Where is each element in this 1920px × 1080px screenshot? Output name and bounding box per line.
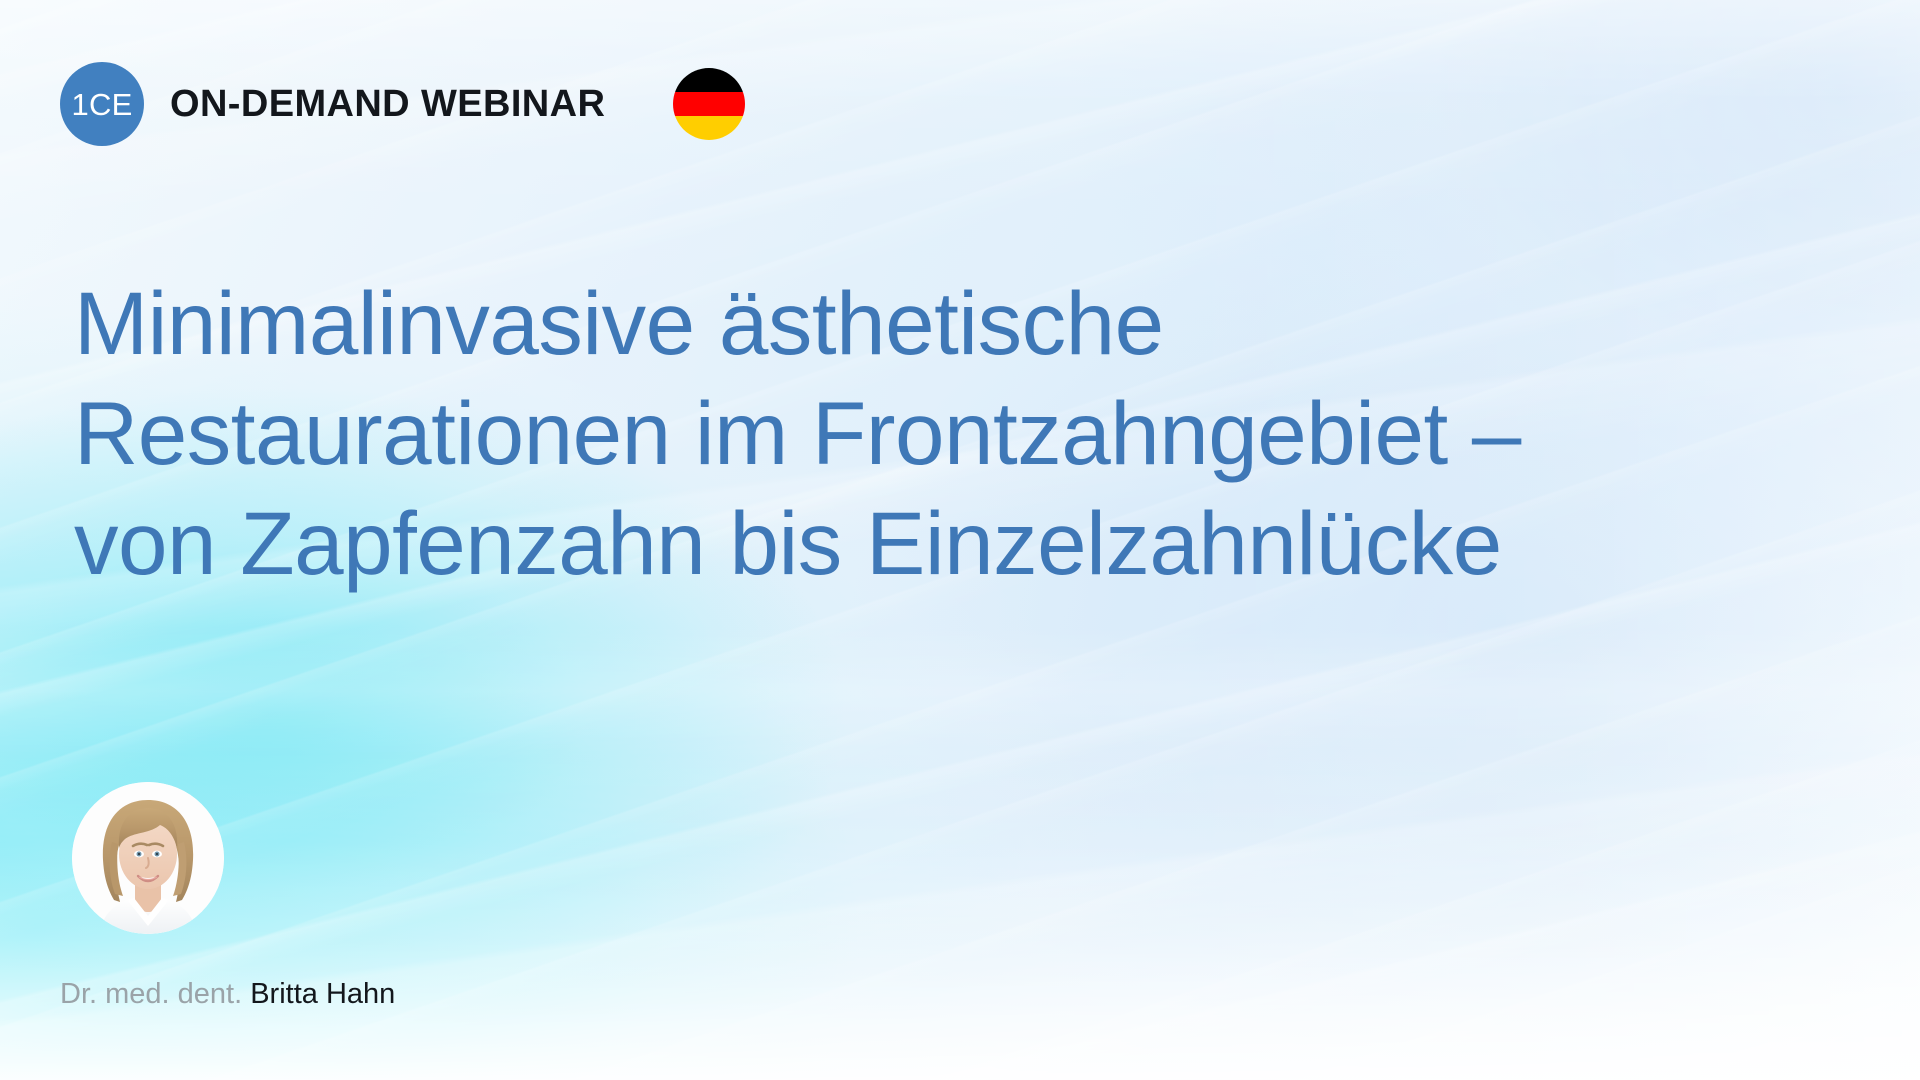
flag-band-black bbox=[673, 68, 745, 92]
banner-header: 1CE ON-DEMAND WEBINAR bbox=[60, 64, 745, 144]
speaker-name-line: Dr. med. dent. Britta Hahn bbox=[60, 978, 395, 1011]
page-title: Minimalinvasive ästhetische Restauration… bbox=[74, 268, 1864, 598]
speaker-name: Britta Hahn bbox=[250, 978, 395, 1010]
speaker-portrait-illustration bbox=[72, 782, 224, 934]
avatar bbox=[72, 782, 224, 934]
title-line-2: Restaurationen im Frontzahngebiet – bbox=[74, 378, 1864, 488]
speaker-title-prefix: Dr. med. dent. bbox=[60, 978, 242, 1010]
webinar-type-label: ON-DEMAND WEBINAR bbox=[170, 83, 605, 126]
title-line-1: Minimalinvasive ästhetische bbox=[74, 268, 1864, 378]
german-flag-icon bbox=[673, 68, 745, 140]
ce-credit-badge-label: 1CE bbox=[72, 89, 133, 120]
flag-band-red bbox=[673, 92, 745, 116]
title-line-3: von Zapfenzahn bis Einzelzahnlücke bbox=[74, 488, 1864, 598]
flag-band-gold bbox=[673, 116, 745, 140]
webinar-promo-banner: 1CE ON-DEMAND WEBINAR Minimalinvasive äs… bbox=[0, 0, 1920, 1080]
ce-credit-badge: 1CE bbox=[60, 62, 144, 146]
